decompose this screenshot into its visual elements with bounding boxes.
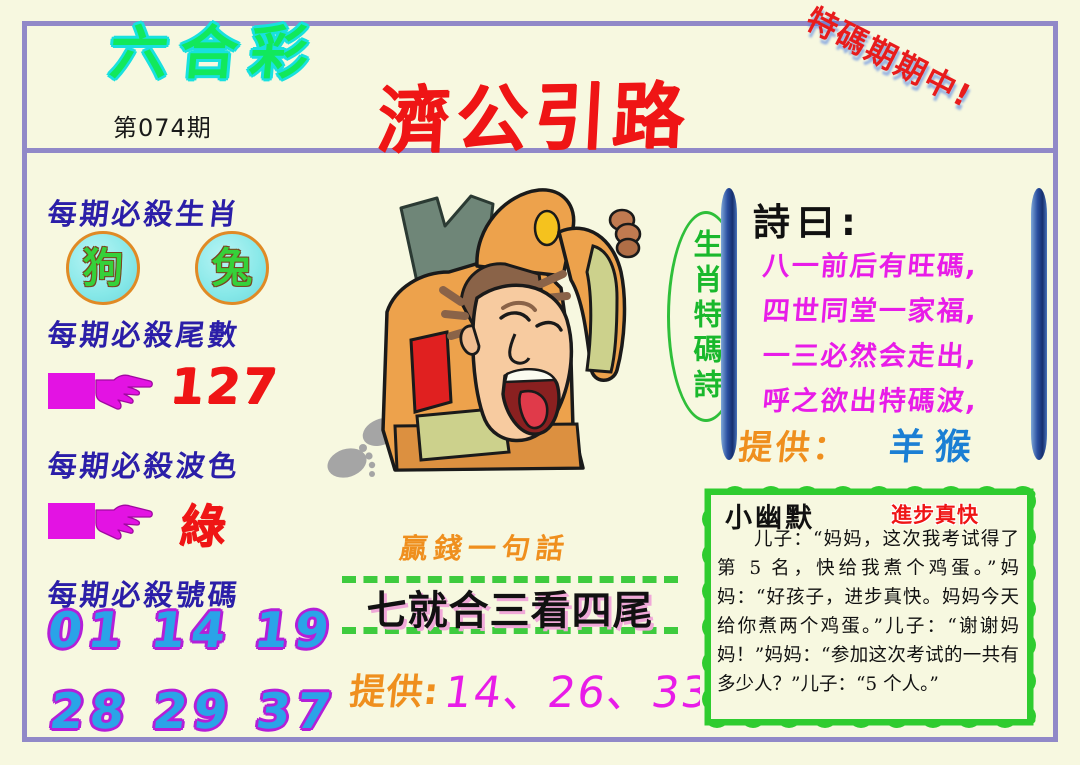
kill-zodiac-label-2: 兔 [198, 234, 266, 302]
poem-line-2: 四世同堂一家福, [761, 289, 980, 328]
issue-number: 第074期 [113, 108, 212, 143]
site-logo: 六合彩 [107, 24, 322, 82]
kill-number-row-2: 28 29 37 [47, 683, 341, 740]
poem-line-3: 一三必然会走出, [761, 334, 980, 373]
poem-line-1: 八一前后有旺碼, [761, 244, 980, 283]
kill-zodiac-heading: 每期必殺生肖 [46, 191, 242, 233]
humour-body: 儿子：“妈妈，这次我考试得了第 5 名，快给我煮个鸡蛋。”妈妈：“好孩子，进步真… [717, 525, 1019, 699]
pointing-hand-icon [94, 368, 154, 414]
humour-content: 小幽默 進步真快 儿子：“妈妈，这次我考试得了第 5 名，快给我煮个鸡蛋。”妈妈… [711, 495, 1027, 719]
lucky-supply-value: 14、26、33 [440, 658, 715, 720]
scroll-edge-left [721, 188, 737, 460]
kill-number-row-1: 01 14 19 [45, 602, 339, 659]
lucky-supply-row: 提供: 14、26、33 [350, 658, 711, 720]
poem-line-4: 呼之欲出特碼波, [761, 379, 980, 418]
scroll-edge-right [1031, 188, 1047, 460]
pointing-hand-icon [94, 498, 154, 544]
kill-color-heading: 每期必殺波色 [46, 443, 242, 485]
kill-zodiac-badge-1: 狗 [66, 231, 140, 305]
poem-title: 詩曰: [753, 192, 863, 246]
jigong-monk-illustration [325, 180, 695, 510]
kill-color-value: 綠 [177, 490, 232, 556]
poem-supply-value: 羊猴 [887, 418, 983, 470]
kill-zodiac-label-1: 狗 [69, 234, 137, 302]
pointer-sleeve [48, 503, 95, 539]
poem-supply-label: 提供： [736, 420, 852, 469]
kill-zodiac-badge-2: 兔 [195, 231, 269, 305]
kill-tail-heading: 每期必殺尾數 [46, 312, 242, 354]
poem-panel: 詩曰: 八一前后有旺碼, 四世同堂一家福, 一三必然会走出, 呼之欲出特碼波, … [731, 188, 1037, 460]
poster-canvas: 六合彩 第074期 濟公引路 特碼期期中! 每期必殺生肖 狗 兔 每期必殺尾數 … [0, 0, 1080, 765]
lucky-phrase-value: 七就合三看四尾 [342, 582, 678, 640]
page-title: 濟公引路 [376, 79, 692, 156]
pointer-sleeve [48, 373, 95, 409]
lucky-phrase-box: 七就合三看四尾 [342, 576, 678, 634]
lucky-phrase-heading: 贏錢一句話 [397, 527, 573, 567]
kill-tail-value: 127 [167, 358, 281, 415]
humour-panel: 小幽默 進步真快 儿子：“妈妈，这次我考试得了第 5 名，快给我煮个鸡蛋。”妈妈… [700, 484, 1038, 730]
lucky-supply-label: 提供: [347, 663, 442, 715]
